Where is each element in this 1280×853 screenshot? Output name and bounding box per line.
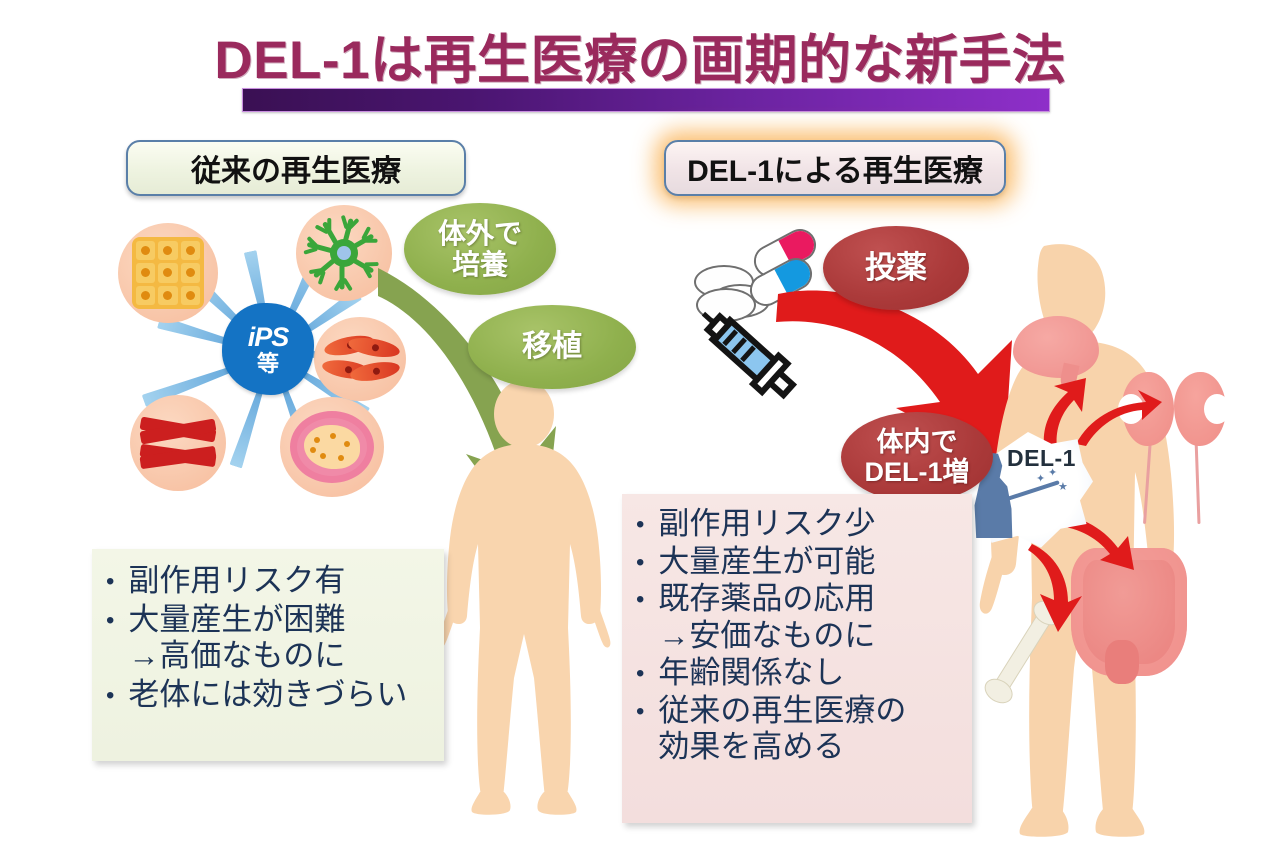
sparkle-icon: ★ (1058, 480, 1068, 493)
liver-grid (132, 237, 204, 309)
bubble-in-vivo-del1-label: 体内で DEL-1増 (864, 427, 969, 487)
left-panel-header: 従来の再生医療 (126, 140, 466, 196)
bubble-transplant: 移植 (468, 305, 636, 389)
bullet-marker: • (636, 655, 644, 686)
right-bullet-box: • 副作用リスク少 • 大量産生が可能 • 既存薬品の応用 →安価なものに • … (622, 494, 972, 823)
list-item-label: 既存薬品の応用 →安価なものに (658, 581, 875, 654)
bubble-transplant-label: 移植 (522, 330, 582, 364)
slide-canvas: DEL-1は再生医療の画期的な新手法 従来の再生医療 DEL-1による再生医療 (0, 0, 1280, 853)
list-item: • 副作用リスク有 (106, 563, 434, 600)
kidney-tube (1195, 438, 1201, 524)
list-item: • 既存薬品の応用 →安価なものに (636, 581, 962, 654)
tissue-dot (344, 441, 350, 447)
neuron-nucleus (337, 246, 351, 260)
brain-organ-icon (1013, 316, 1099, 378)
list-item: • 年齢関係なし (636, 655, 962, 692)
ips-hub: iPS 等 (222, 303, 314, 395)
tissue-dot (338, 455, 344, 461)
bullet-marker: • (636, 693, 644, 724)
list-item-label: 大量産生が可能 (658, 544, 875, 581)
list-item-label: 従来の再生医療の 効果を高める (658, 693, 906, 766)
list-item: • 副作用リスク少 (636, 506, 962, 543)
bubble-in-vivo-del1: 体内で DEL-1増 (841, 412, 993, 502)
bubble-ex-vivo-culture: 体外で 培養 (404, 203, 556, 295)
human-body-left (424, 378, 624, 818)
tissue-dot (330, 433, 336, 439)
right-panel-header-label: DEL-1による再生医療 (687, 146, 983, 190)
bullet-marker: • (106, 677, 114, 708)
del1-label: DEL-1 (1007, 445, 1076, 472)
bubble-ex-vivo-culture-label: 体外で 培養 (438, 218, 522, 281)
list-item-label: 副作用リスク有 (128, 563, 345, 600)
bullet-marker: • (636, 506, 644, 537)
tissue-dot (310, 447, 316, 453)
right-bullet-list: • 副作用リスク少 • 大量産生が可能 • 既存薬品の応用 →安価なものに • … (636, 506, 962, 766)
bullet-marker: • (106, 563, 114, 594)
kidney-organ-icon (1174, 372, 1226, 446)
list-item-label: 大量産生が困難 →高価なものに (128, 602, 345, 675)
bubble-dosing: 投薬 (823, 226, 969, 310)
right-panel-header: DEL-1による再生医療 (664, 140, 1006, 196)
list-item-label: 副作用リスク少 (658, 506, 875, 543)
title-underline-bar (242, 88, 1050, 112)
bullet-marker: • (636, 544, 644, 575)
list-item-label: 年齢関係なし (658, 655, 844, 692)
list-item: • 老体には効きづらい (106, 677, 434, 714)
list-item: • 従来の再生医療の 効果を高める (636, 693, 962, 766)
left-bullet-box: • 副作用リスク有 • 大量産生が困難 →高価なものに • 老体には効きづらい (92, 549, 444, 761)
page-title: DEL-1は再生医療の画期的な新手法 (0, 18, 1280, 94)
bullet-marker: • (636, 581, 644, 612)
tissue-dot (314, 437, 320, 443)
list-item: • 大量産生が可能 (636, 544, 962, 581)
list-item-label: 老体には効きづらい (128, 677, 407, 714)
cell-icon-tissue (280, 397, 384, 497)
left-bullet-list: • 副作用リスク有 • 大量産生が困難 →高価なものに • 老体には効きづらい (106, 563, 434, 713)
cell-icon-liver-tissue (118, 223, 218, 323)
sparkle-icon: ✦ (1036, 472, 1045, 485)
tissue-dot (320, 453, 326, 459)
cell-icon-blood-vessel (130, 395, 226, 491)
bubble-dosing-label: 投薬 (865, 251, 927, 286)
left-panel-header-label: 従来の再生医療 (191, 146, 401, 190)
red-arrow-to-kidney (1072, 388, 1162, 448)
list-item: • 大量産生が困難 →高価なものに (106, 602, 434, 675)
bullet-marker: • (106, 602, 114, 633)
ips-hub-line2: 等 (257, 353, 279, 375)
ips-hub-line1: iPS (248, 324, 289, 351)
